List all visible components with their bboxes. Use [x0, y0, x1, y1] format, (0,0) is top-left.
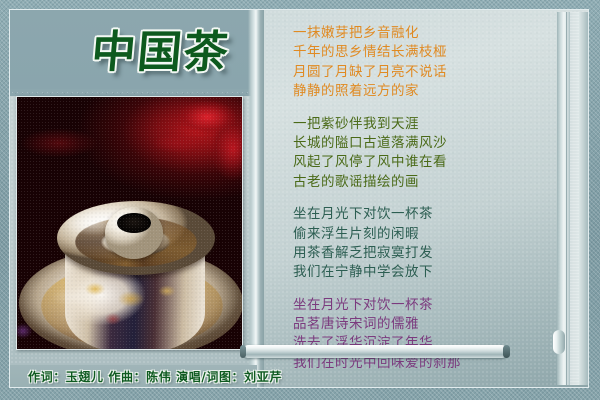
- lyrics-block: 一抹嫩芽把乡音融化千年的思乡情结长满枝桠月圆了月缺了月亮不说话静静的照着远方的家…: [293, 24, 531, 386]
- photo-lid-knob-hollow: [117, 213, 151, 233]
- photo-red-drape-left: [17, 115, 127, 175]
- lyrics-stanza: 坐在月光下对饮一杯茶品茗唐诗宋词的儒雅洗去了浮华沉淀了年华我们在时光中回味爱的刹…: [293, 296, 531, 374]
- lyrics-stanza: 一把紫砂伴我到天涯长城的隘口古道落满风沙风起了风停了风中谁在看古老的歌谣描绘的画: [293, 115, 531, 193]
- lyrics-line: 古老的歌谣描绘的画: [293, 173, 531, 192]
- lyrics-stanza: 一抹嫩芽把乡音融化千年的思乡情结长满枝桠月圆了月缺了月亮不说话静静的照着远方的家: [293, 24, 531, 102]
- content-panel: 中国茶 一抹嫩芽把乡音融化千年的思乡情结长满枝桠月圆了月缺了月亮不说话静静的照着…: [9, 9, 589, 388]
- lyrics-line: 我们在宁静中学会放下: [293, 263, 531, 282]
- photo-cup-decoration: [79, 273, 191, 339]
- lyrics-line: 坐在月光下对饮一杯茶: [293, 205, 531, 224]
- column-divider: [248, 10, 264, 387]
- lyrics-line: 风起了风停了风中谁在看: [293, 153, 531, 172]
- chrome-bar-groove: [566, 12, 568, 385]
- page-title: 中国茶: [73, 18, 248, 78]
- photo-red-drape: [137, 97, 242, 207]
- slideshow-stage: 中国茶 一抹嫩芽把乡音融化千年的思乡情结长满枝桠月圆了月缺了月亮不说话静静的照着…: [0, 0, 600, 400]
- lyrics-line: 静静的照着远方的家: [293, 82, 531, 101]
- credits-text: 作词：玉翅儿 作曲：陈伟 演唱/词图：刘亚芹: [28, 368, 282, 385]
- lyrics-line: 一把紫砂伴我到天涯: [293, 115, 531, 134]
- lyrics-line: 偷来浮生片刻的闲暇: [293, 225, 531, 244]
- vertical-chrome-tube: [553, 330, 565, 354]
- lyrics-line: 千年的思乡情结长满枝桠: [293, 43, 531, 62]
- lyrics-line: 长城的隘口古道落满风沙: [293, 134, 531, 153]
- right-chrome-bar: [557, 12, 588, 385]
- horizontal-chrome-tube: [242, 345, 508, 358]
- credits-bar: 作词：玉翅儿 作曲：陈伟 演唱/词图：刘亚芹: [10, 365, 257, 387]
- tube-cap-right: [503, 345, 510, 358]
- lyrics-line: 月圆了月缺了月亮不说话: [293, 63, 531, 82]
- tea-cup-photo: [16, 96, 243, 350]
- lyrics-line: 一抹嫩芽把乡音融化: [293, 24, 531, 43]
- tube-cap-left: [240, 345, 246, 358]
- lyrics-line: 坐在月光下对饮一杯茶: [293, 296, 531, 315]
- lyrics-stanza: 坐在月光下对饮一杯茶偷来浮生片刻的闲暇用茶香解乏把寂寞打发我们在宁静中学会放下: [293, 205, 531, 283]
- chrome-bar-sheen: [570, 12, 579, 385]
- lyrics-line: 品茗唐诗宋词的儒雅: [293, 315, 531, 334]
- lyrics-line: 用茶香解乏把寂寞打发: [293, 244, 531, 263]
